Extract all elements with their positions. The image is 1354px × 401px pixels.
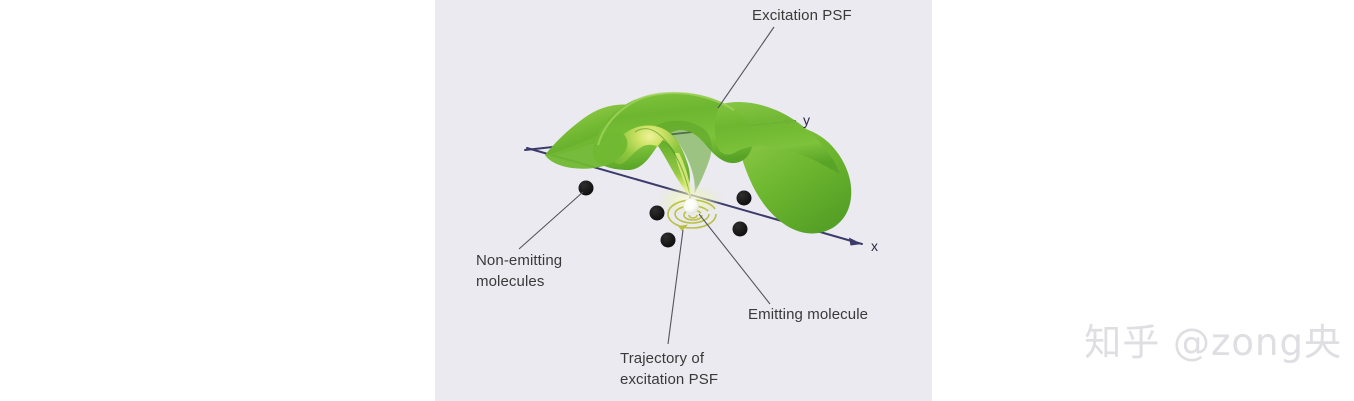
axis-label-y: y [803, 112, 810, 128]
label-emitting-molecule: Emitting molecule [748, 306, 868, 324]
watermark: 知乎 @zong央 [1084, 312, 1342, 366]
label-non-emitting-molecules-line1: Non-emitting [476, 252, 562, 270]
label-excitation-psf: Excitation PSF [752, 7, 852, 25]
figure-root: Excitation PSF Non-emitting molecules Tr… [0, 0, 1354, 401]
axis-label-x: x [871, 238, 878, 254]
label-trajectory-line1: Trajectory of [620, 350, 704, 368]
label-non-emitting-molecules-line2: molecules [476, 273, 544, 291]
diagram-panel [435, 0, 932, 401]
label-trajectory-line2: excitation PSF [620, 371, 718, 389]
